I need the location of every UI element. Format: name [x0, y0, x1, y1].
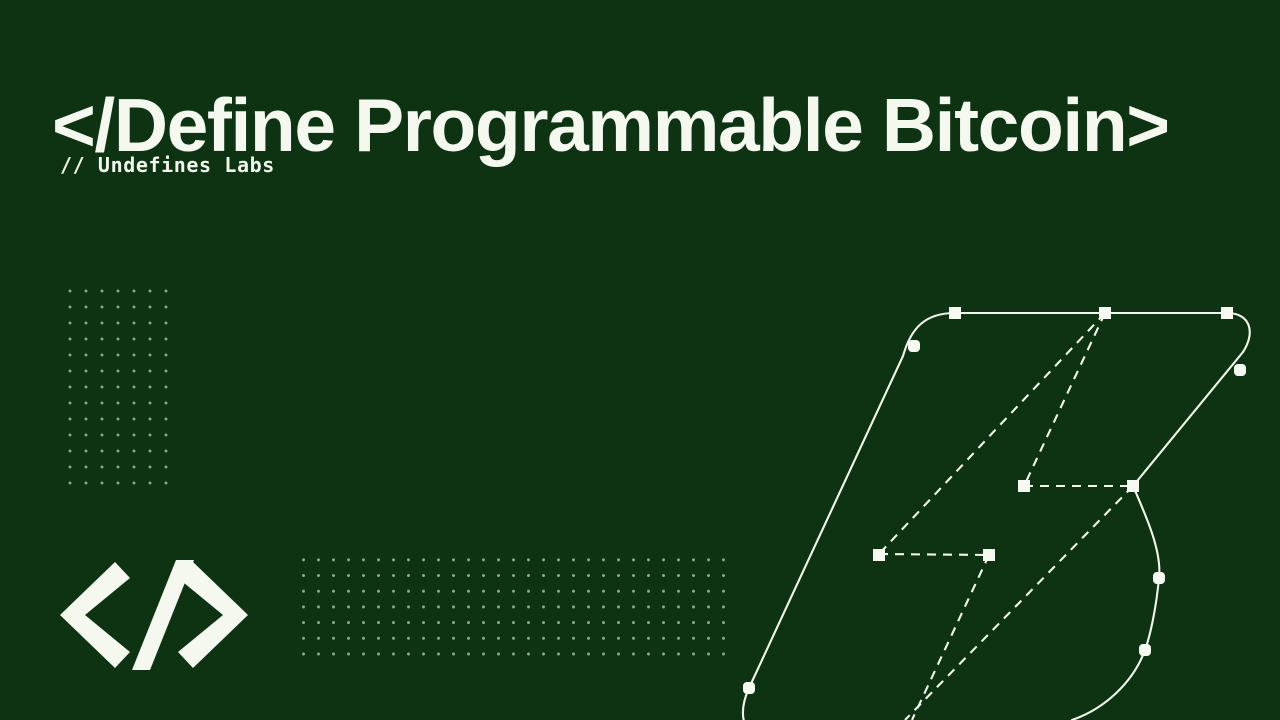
bolt-handle-upper-short — [1024, 313, 1105, 486]
bolt-outline-right — [1133, 313, 1250, 486]
anchor-point[interactable] — [1221, 307, 1233, 319]
anchor-point[interactable] — [1099, 307, 1111, 319]
bolt-handle-lower-short — [912, 555, 989, 720]
anchor-point[interactable] — [873, 549, 885, 561]
anchor-point[interactable] — [983, 549, 995, 561]
anchor-point-smooth[interactable] — [1153, 572, 1165, 584]
bolt-handle-lower-horizontal — [879, 554, 989, 555]
anchor-point[interactable] — [949, 307, 961, 319]
code-slash-icon-svg — [58, 556, 250, 674]
dot-grid-bottom — [295, 551, 726, 665]
anchor-point-smooth[interactable] — [1139, 644, 1151, 656]
anchor-point[interactable] — [1127, 480, 1139, 492]
bolt-handle-lower-long — [905, 486, 1133, 720]
bolt-outline-left — [743, 313, 955, 720]
slide-canvas: </Define Programmable Bitcoin> // Undefi… — [0, 0, 1280, 720]
bolt-outline-right-lower — [1072, 486, 1159, 720]
anchor-point-smooth[interactable] — [743, 682, 755, 694]
anchor-point[interactable] — [1018, 480, 1030, 492]
code-slash-icon — [58, 556, 250, 674]
lightning-bolt-svg — [700, 280, 1280, 720]
lightning-bolt-artwork — [700, 280, 1280, 720]
anchor-point-smooth[interactable] — [1234, 364, 1246, 376]
anchor-point-smooth[interactable] — [908, 340, 920, 352]
page-title: </Define Programmable Bitcoin> — [52, 88, 1252, 163]
subtitle-org-label: // Undefines Labs — [60, 153, 275, 177]
dot-grid-left — [61, 282, 175, 492]
